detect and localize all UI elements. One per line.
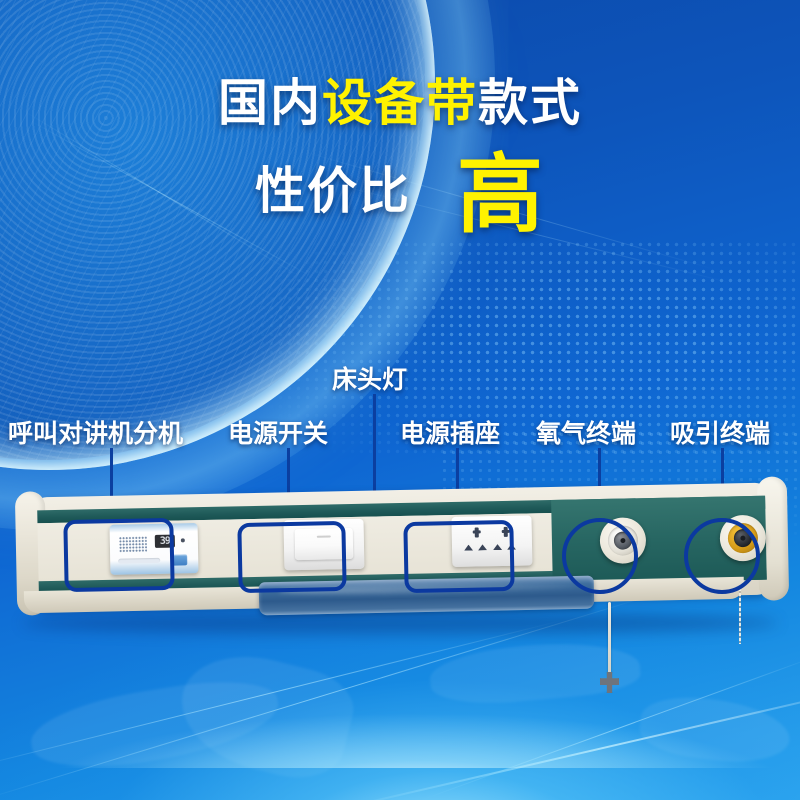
callout-label-oxygen-terminal: 氧气终端 (536, 414, 636, 450)
highlight-box-nurse-call-intercom (63, 518, 174, 592)
call-button[interactable] (172, 554, 187, 565)
highlight-circle-oxygen-terminal (562, 518, 638, 594)
callout-label-nurse-call-intercom: 呼叫对讲机分机 (8, 414, 183, 450)
callout-label-power-socket: 电源插座 (400, 414, 500, 450)
highlight-box-power-socket (403, 520, 514, 593)
promo-banner: 国内设备带款式 性价比高 呼叫对讲机分机 电源开关 床头灯 电源插座 氧气终端 … (0, 0, 800, 800)
highlight-box-power-switch (237, 521, 346, 593)
callout-label-bed-head-lamp: 床头灯 (332, 360, 407, 396)
callout-label-power-switch: 电源开关 (228, 414, 328, 450)
indicator-dot-icon (181, 538, 185, 542)
pull-cord[interactable] (608, 602, 611, 678)
panel-drop-shadow (22, 612, 778, 634)
pull-cord-secondary[interactable] (739, 588, 741, 644)
callout-label-suction-terminal: 吸引终端 (670, 414, 770, 450)
highlight-circle-suction-terminal (684, 518, 760, 594)
